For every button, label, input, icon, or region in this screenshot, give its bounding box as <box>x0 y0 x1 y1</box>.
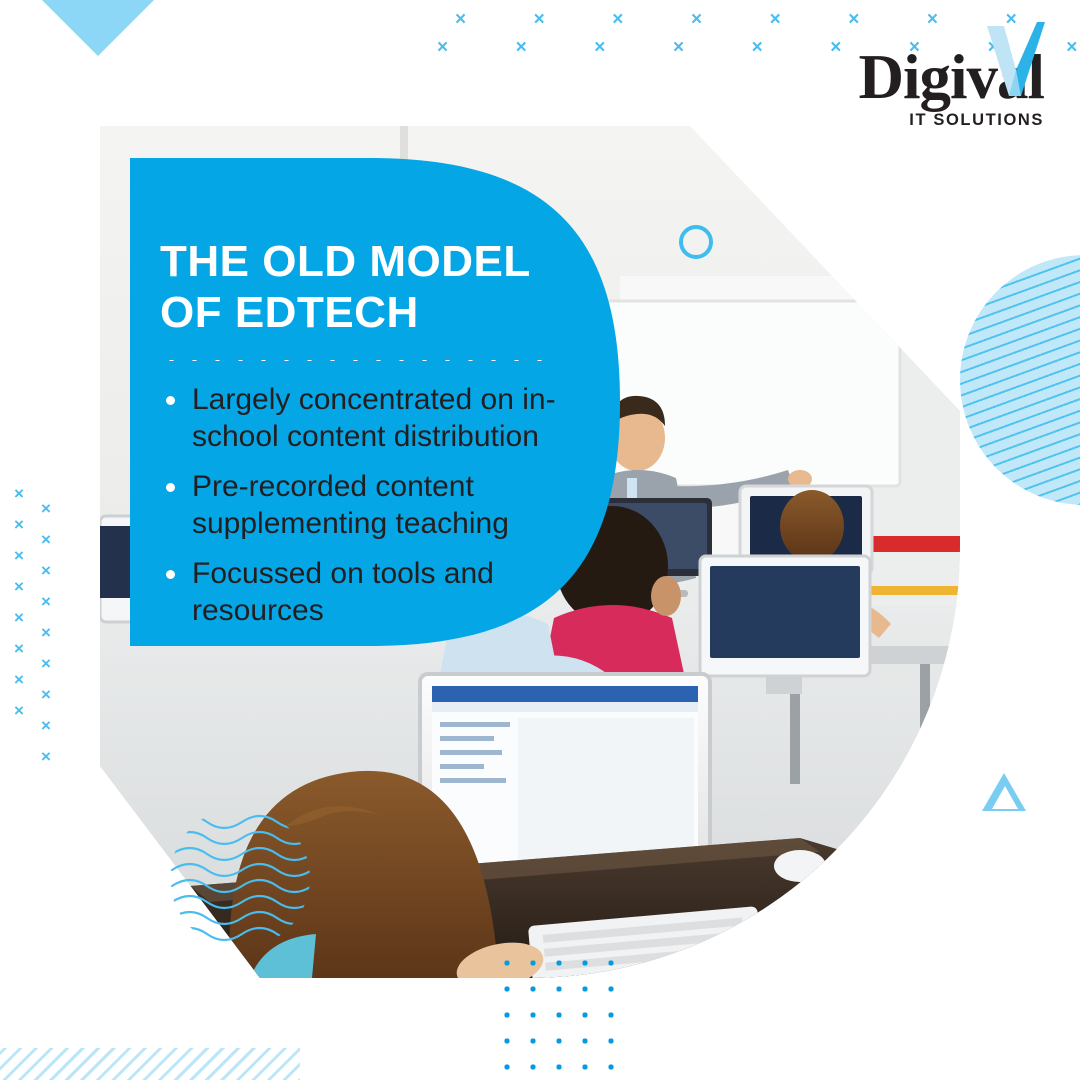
content-panel: THE OLD MODEL OF EDTECH Largely concentr… <box>130 158 620 646</box>
x-marks-left-col-2: ××××××××× <box>41 493 51 772</box>
brand-logo: Digival IT SOLUTIONS <box>858 46 1044 130</box>
content-panel-body: THE OLD MODEL OF EDTECH Largely concentr… <box>160 236 590 642</box>
list-item: Pre-recorded content supplementing teach… <box>160 468 590 542</box>
logo-wordmark: Digival <box>858 46 1044 109</box>
page-title: THE OLD MODEL OF EDTECH <box>160 236 590 338</box>
dotted-divider <box>160 358 552 363</box>
list-item: Largely concentrated on in-school conten… <box>160 381 590 455</box>
triangle-outline-right-icon <box>982 773 1026 811</box>
poster-canvas: × × × × × × × × × × × × × × × × × ××××××… <box>0 0 1080 1080</box>
triangle-solid-top-left-icon <box>42 0 154 56</box>
bullet-list: Largely concentrated on in-school conten… <box>160 381 590 629</box>
logo-tagline: IT SOLUTIONS <box>858 111 1044 130</box>
list-item: Focussed on tools and resources <box>160 555 590 629</box>
triangle-outline-right-inner <box>992 786 1018 809</box>
striped-circle-right-icon <box>960 255 1080 505</box>
x-marks-left-col-1: ×××××××× <box>14 478 24 726</box>
logo-check-v-icon <box>987 22 1045 96</box>
x-marks-top-row-1: × × × × × × × × <box>455 10 1036 29</box>
diagonal-stripe-band-icon <box>0 1048 300 1080</box>
